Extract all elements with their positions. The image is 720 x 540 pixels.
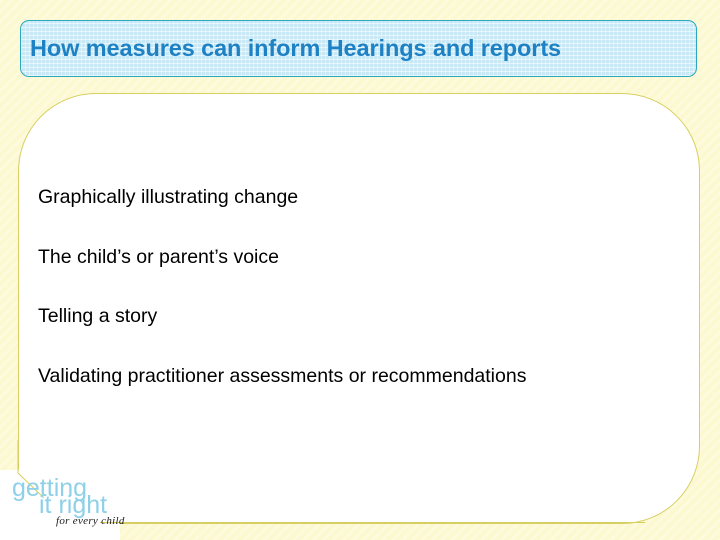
slide-title: How measures can inform Hearings and rep…	[30, 35, 561, 62]
list-item: The child’s or parent’s voice	[38, 248, 668, 268]
logo-tagline: for every child	[56, 516, 125, 527]
list-item: Graphically illustrating change	[38, 188, 668, 208]
list-item: Telling a story	[38, 307, 668, 327]
girfec-logo: getting it right for every child	[12, 476, 117, 532]
bullet-list: Graphically illustrating change The chil…	[38, 188, 668, 386]
footer-rule	[100, 522, 645, 523]
list-item: Validating practitioner assessments or r…	[38, 367, 668, 387]
slide: How measures can inform Hearings and rep…	[0, 0, 720, 540]
slide-title-bar: How measures can inform Hearings and rep…	[20, 20, 697, 77]
